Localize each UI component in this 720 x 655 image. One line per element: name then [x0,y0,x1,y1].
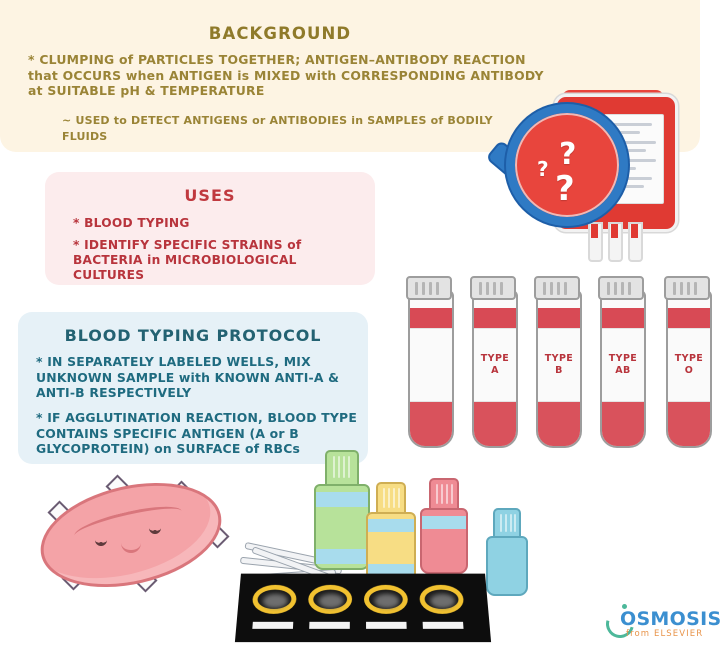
test-tube-4-label-word: TYPE [601,353,645,364]
test-tube-2-cap [470,276,516,300]
uses-item-2: * IDENTIFY SPECIFIC STRAINS of BACTERIA … [73,238,363,283]
test-tube-2: TYPE A [472,290,518,448]
question-mark-icon-2: ? [537,157,549,181]
blood-cells-layer [538,402,580,446]
bottle-body [420,508,468,574]
background-bullet-1: * CLUMPING of PARTICLES TOGETHER; ANTIGE… [28,52,548,99]
question-mark-icon-3: ? [555,169,575,209]
plasma-layer [474,308,516,330]
uses-item-1-text: BLOOD TYPING [84,216,190,230]
background-title: BACKGROUND [0,24,560,43]
background-bullet-2: ~ USED to DETECT ANTIGENS or ANTIBODIES … [62,113,532,144]
test-tube-2-label: TYPE A [473,328,517,402]
test-tube-4-label-type: AB [601,365,645,376]
test-tube-3-label: TYPE B [537,328,581,402]
blood-cells-layer [474,402,516,446]
magnifying-glass-icon: ? ? ? [506,104,628,226]
test-tube-4: TYPE AB [600,290,646,448]
background-bullet-1-text: CLUMPING of PARTICLES TOGETHER; ANTIGEN–… [28,52,544,98]
protocol-item-2-text: IF AGGLUTINATION REACTION, BLOOD TYPE CO… [36,410,357,456]
bullet-marker: * [73,238,80,252]
test-tube-5-label-type: O [667,365,711,376]
test-tube-5: TYPE O [666,290,712,448]
bullet-marker: * [36,354,43,369]
tray-well-2 [308,585,352,614]
bottle-body [486,536,528,596]
test-tube-5-cap [664,276,710,300]
protocol-item-1: * IN SEPARATELY LABELED WELLS, MIX UNKNO… [36,354,358,401]
bottle-cap [376,482,406,516]
test-tube-3-label-type: B [537,365,581,376]
plasma-layer [668,308,710,330]
test-tube-2-label-type: A [473,365,517,376]
bullet-marker: * [28,52,35,67]
tray-well-4 [419,585,464,614]
tray-label-strip-2 [309,622,350,629]
test-tube-4-label: TYPE AB [601,328,645,402]
uses-item-1: * BLOOD TYPING [73,216,363,231]
question-mark-icon-1: ? [559,137,576,172]
bottle-cap [325,450,359,488]
tray-well-1 [251,585,297,614]
blood-cells-layer [410,402,452,446]
test-tube-5-label: TYPE O [667,328,711,402]
plasma-layer [602,308,644,330]
protocol-item-2: * IF AGGLUTINATION REACTION, BLOOD TYPE … [36,410,358,457]
test-tube-rack: TYPE A TYPE B TYPE AB TYPE [404,276,716,446]
blood-cells-layer [668,402,710,446]
uses-panel: USES * BLOOD TYPING * IDENTIFY SPECIFIC … [45,172,375,285]
rbc-pupil-right [153,530,157,534]
bottle-body [314,484,370,570]
tray-label-strip-1 [252,622,293,629]
red-blood-cell-icon [30,467,231,604]
blood-bag-illustration: ? ? ? [492,86,692,266]
sub-bullet-marker: ~ [62,114,71,127]
tray-label-strip-4 [423,622,464,629]
saline-dropper-bottle [486,508,528,596]
test-tube-3: TYPE B [536,290,582,448]
test-tube-3-cap [534,276,580,300]
anti-b-dropper-bottle [366,482,416,582]
test-tube-2-label-word: TYPE [473,353,517,364]
tray-label-strip-3 [366,622,407,629]
blood-bag-ports [588,222,648,262]
rbc-pupil-left [99,542,103,546]
osmosis-sublabel: from ELSEVIER [626,629,703,639]
osmosis-wordmark: OSMOSIS [620,608,720,630]
uses-title: USES [45,186,375,205]
test-tube-1 [408,290,454,448]
bottle-body [366,512,416,582]
uses-item-2-text: IDENTIFY SPECIFIC STRAINS of BACTERIA in… [73,238,301,282]
plasma-layer [410,308,452,330]
background-bullet-2-text: USED to DETECT ANTIGENS or ANTIBODIES in… [62,114,493,143]
tray-well-3 [364,585,408,614]
blood-cells-layer [602,402,644,446]
anti-d-dropper-bottle [420,478,468,574]
bullet-marker: * [36,410,43,425]
test-tube-1-label [409,328,453,402]
blood-typing-tray-icon [235,574,491,643]
plasma-layer [538,308,580,330]
test-tube-3-label-word: TYPE [537,353,581,364]
protocol-item-1-text: IN SEPARATELY LABELED WELLS, MIX UNKNOWN… [36,354,339,400]
bullet-marker: * [73,216,80,230]
bottle-cap [429,478,459,512]
test-tube-1-cap [406,276,452,300]
red-blood-cell-character [25,478,230,586]
protocol-panel: BLOOD TYPING PROTOCOL * IN SEPARATELY LA… [18,312,368,464]
anti-a-dropper-bottle [314,450,370,570]
osmosis-logo: OSMOSIS from ELSEVIER [604,602,716,646]
test-tube-4-cap [598,276,644,300]
test-tube-5-label-word: TYPE [667,353,711,364]
protocol-title: BLOOD TYPING PROTOCOL [18,326,368,345]
